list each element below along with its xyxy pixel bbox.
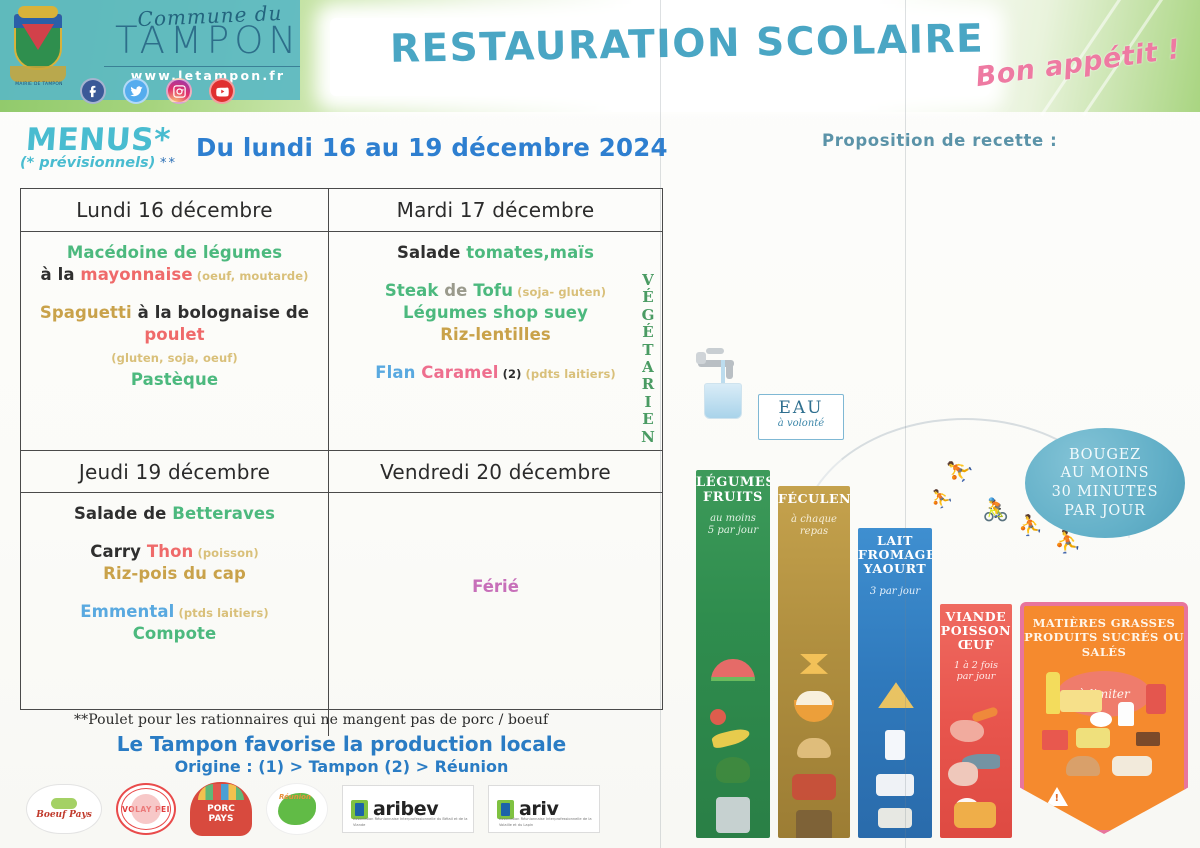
table-header-row-2: Jeudi 19 décembre Vendredi 20 décembre [21,450,662,493]
person-running-icon: ⛹ [927,485,955,512]
menu-item-text: de [438,281,473,300]
menu-item-text: à la [40,265,80,284]
day-header-mardi: Mardi 17 décembre [329,189,662,232]
menu-line: Flan Caramel (2) (pdts laitiers) [335,362,656,384]
fats-panel-caption-line: PRODUITS SUCRÉS OU SALÉS [1024,630,1184,659]
menu-line: Spaguetti à la bolognaise de [27,302,322,324]
menu-item-text: Salade [397,243,466,262]
paper-fold-left [660,0,661,848]
boeuf-pays-logo-text: Boeuf Pays [36,810,92,820]
menu-line: Steak de Tofu (soja- gluten) [335,280,656,302]
day-title: Vendredi 20 décembre [380,460,611,484]
boeuf-pays-logo: Boeuf Pays [26,784,102,834]
legumes-fruits-column: LÉGUMESFRUITS au moins5 par jour [696,470,770,838]
menu-item-text: Flan [375,363,421,382]
poster-column-caption-line: FRUITS [696,491,770,506]
aribev-mark-icon [351,800,368,819]
partner-logos: Boeuf Pays VOLAY PEI PORC PAYS Réunion a… [26,778,646,840]
menu-spacer [27,585,322,601]
menu-line: Salade de Betteraves [27,503,322,525]
porc-pays-line1: PORC [207,804,235,814]
poster-column-caption-line: VIANDE [940,610,1012,624]
move-bubble: BOUGEZAU MOINS30 MINUTESPAR JOUR [1025,428,1185,538]
poster-column-caption-line: FÉCULENTS [778,492,850,506]
move-bubble-line: 30 MINUTES [1052,483,1159,502]
move-bubble-line: AU MOINS [1052,464,1159,483]
menu-line: Pastèque [27,369,322,391]
holiday-label: Férié [335,577,656,596]
vegetarian-letter: É [637,289,659,306]
day-title: Mardi 17 décembre [397,198,595,222]
day-header-jeudi: Jeudi 19 décembre [21,450,329,493]
menu-line: Emmental (ptds laitiers) [27,601,322,623]
menu-line: Riz-pois du cap [27,563,322,585]
ariv-mark-icon [497,800,514,819]
menu-item-text: (gluten, soja, oeuf) [111,351,237,365]
menu-line: Riz-lentilles [335,324,656,346]
lait-fromage-yaourt-column: LAITFROMAGEYAOURT 3 par jour [858,528,932,838]
menu-item-text: Riz-pois du cap [103,564,246,583]
ariv-logo-subtext: Association Réunionnaise Interprofession… [499,817,599,828]
poster-column-caption-line: ŒUF [940,638,1012,652]
warning-triangle-icon [1046,787,1068,806]
menu-item-text: Salade de [74,504,172,523]
menu-item-text: Betteraves [172,504,275,523]
youtube-icon[interactable] [209,78,235,104]
menus-subheading: (* prévisionnels) [20,155,155,171]
eau-frequency: à volonté [759,418,843,429]
table-body-row-1: Macédoine de légumesà la mayonnaise (oeu… [21,232,662,450]
menu-line: Macédoine de légumes [27,242,322,264]
aribev-logo: aribev Association Réunionnaise Interpro… [342,785,474,833]
recipe-proposal-label: Proposition de recette : [822,131,1057,150]
vegetarian-letter: T [637,342,659,359]
menu-item-text: Tofu [473,281,513,300]
menu-item-text: à la bolognaise de [138,303,309,322]
poster-column-frequency-line: 5 par jour [696,525,770,537]
menu-spacer [27,286,322,302]
fats-sugars-panel: MATIÈRES GRASSESPRODUITS SUCRÉS OU SALÉS… [1020,602,1188,834]
menu-cell-jeudi: Salade de BetteravesCarry Thon (poisson)… [21,493,329,736]
menu-item-text: Macédoine de légumes [67,243,282,262]
volay-pei-logo: VOLAY PEI [116,783,176,835]
tampon-coat-of-arms-icon: MAIRIE DE TAMPON [8,6,70,90]
vegetarian-letter: E [637,411,659,428]
nutrition-poster: EAU à volonté ⛹ ⛹ 🚴 ⛹ ⛹ BOUGEZAU MOINS30… [690,340,1190,840]
table-body-row-2: Salade de BetteravesCarry Thon (poisson)… [21,493,662,736]
vegetarian-label-vertical: VÉGÉTARIEN [637,272,659,446]
day-header-vendredi: Vendredi 20 décembre [329,450,662,493]
aribev-logo-subtext: Association Réunionnaise Interprofession… [353,817,473,828]
menu-item-text: Steak [385,281,439,300]
menu-item-text: Spaguetti [40,303,138,322]
twitter-icon[interactable] [123,78,149,104]
menu-spacer [335,264,656,280]
vegetarian-letter: A [637,359,659,376]
menu-item-text: poulet [144,325,204,344]
poster-column-caption-line: LÉGUMES [696,476,770,491]
menu-item-text: Caramel [421,363,498,382]
move-bubble-line: BOUGEZ [1052,446,1159,465]
menu-item-text: Compote [133,624,217,643]
day-title: Lundi 16 décembre [76,198,273,222]
footnote-origine: Origine : (1) > Tampon (2) > Réunion [20,757,663,776]
move-bubble-line: PAR JOUR [1052,502,1159,521]
menu-line: Légumes shop suey [335,302,656,324]
facebook-icon[interactable] [80,78,106,104]
page-header: MAIRIE DE TAMPON Commune du TAMPON www.l… [0,0,1200,112]
menus-heading: MENUS* [25,122,172,158]
menu-item-text: Thon [147,542,193,561]
poster-column-caption-line: FROMAGE [858,548,932,562]
poster-column-caption-line: YAOURT [858,562,932,576]
menu-cell-vendredi: Férié [329,493,662,736]
vegetarian-letter: G [637,307,659,324]
poster-column-frequency-line: repas [778,526,850,538]
day-title: Jeudi 19 décembre [79,460,270,484]
poster-column-caption-line: LAIT [858,534,932,548]
water-glass-icon [704,383,742,419]
day-header-lundi: Lundi 16 décembre [21,189,329,232]
poster-column-frequency-line: à chaque [778,514,850,526]
vegetarian-letter: R [637,376,659,393]
crest-caption: MAIRIE DE TAMPON [8,82,70,87]
menu-item-text: (pdts laitiers) [521,367,615,381]
menus-footnote-marker: ** [160,156,177,171]
paper-fold-right [905,0,906,848]
menu-cell-lundi: Macédoine de légumesà la mayonnaise (oeu… [21,232,329,450]
menu-item-text: Riz-lentilles [440,325,551,344]
poster-column-frequency-line: au moins [696,513,770,525]
menu-item-text: tomates,maïs [466,243,594,262]
menu-item-text: (oeuf, moutarde) [193,269,309,283]
menu-item-text: Emmental [80,602,174,621]
porc-pays-line2: PAYS [209,814,234,824]
poster-column-caption-line: POISSON [940,624,1012,638]
commune-name: TAMPON [98,22,318,59]
menu-line: Compote [27,623,322,645]
feculents-column: FÉCULENTS à chaquerepas [778,486,850,838]
ariv-logo: ariv Association Réunionnaise Interprofe… [488,785,600,833]
person-skating-icon: ⛹ [941,452,978,489]
leaf-logo-text: Réunion [279,793,311,801]
menu-item-text: (poisson) [193,546,258,560]
menu-line: poulet [27,324,322,346]
vegetarian-letter: É [637,324,659,341]
instagram-icon[interactable] [166,78,192,104]
poster-column-frequency-line: 1 à 2 fois [940,660,1012,671]
social-links [80,78,300,104]
porc-pays-logo: PORC PAYS [190,782,252,836]
viande-poisson-oeuf-column: VIANDEPOISSONŒUF 1 à 2 foispar jour [940,604,1012,838]
menu-item-text: Pastèque [131,370,218,389]
menu-item-text: mayonnaise [80,265,192,284]
menu-line: Carry Thon (poisson) [27,541,322,563]
menu-item-text: (soja- gluten) [513,285,606,299]
poster-column-frequency-line: par jour [940,671,1012,682]
table-header-row-1: Lundi 16 décembre Mardi 17 décembre [21,189,662,232]
header-rule [104,66,300,67]
menu-spacer [27,525,322,541]
menu-line: (gluten, soja, oeuf) [27,346,322,368]
fats-panel-caption-line: MATIÈRES GRASSES [1024,616,1184,630]
menu-line: à la mayonnaise (oeuf, moutarde) [27,264,322,286]
menu-spacer [335,346,656,362]
menu-line: Salade tomates,maïs [335,242,656,264]
person-cycling-icon: 🚴 [982,498,1009,523]
vegetarian-letter: I [637,394,659,411]
leaf-logo: Réunion [266,783,328,835]
weekly-menu-table: Lundi 16 décembre Mardi 17 décembre Macé… [20,188,663,710]
menu-item-text: Carry [90,542,147,561]
poster-column-frequency-line: 3 par jour [858,586,932,598]
menu-cell-mardi: VÉGÉTARIEN Salade tomates,maïsSteak de T… [329,232,662,450]
menu-item-text: (2) [499,367,522,381]
menu-item-text: Légumes shop suey [403,303,588,322]
person-walking-icon: ⛹ [1018,513,1043,537]
menu-item-text: (ptds laitiers) [174,606,268,620]
menu-date-range: Du lundi 16 au 19 décembre 2024 [196,133,668,162]
vegetarian-letter: V [637,272,659,289]
eau-title: EAU [759,398,843,418]
eau-callout: EAU à volonté [758,394,844,440]
vegetarian-letter: N [637,429,659,446]
